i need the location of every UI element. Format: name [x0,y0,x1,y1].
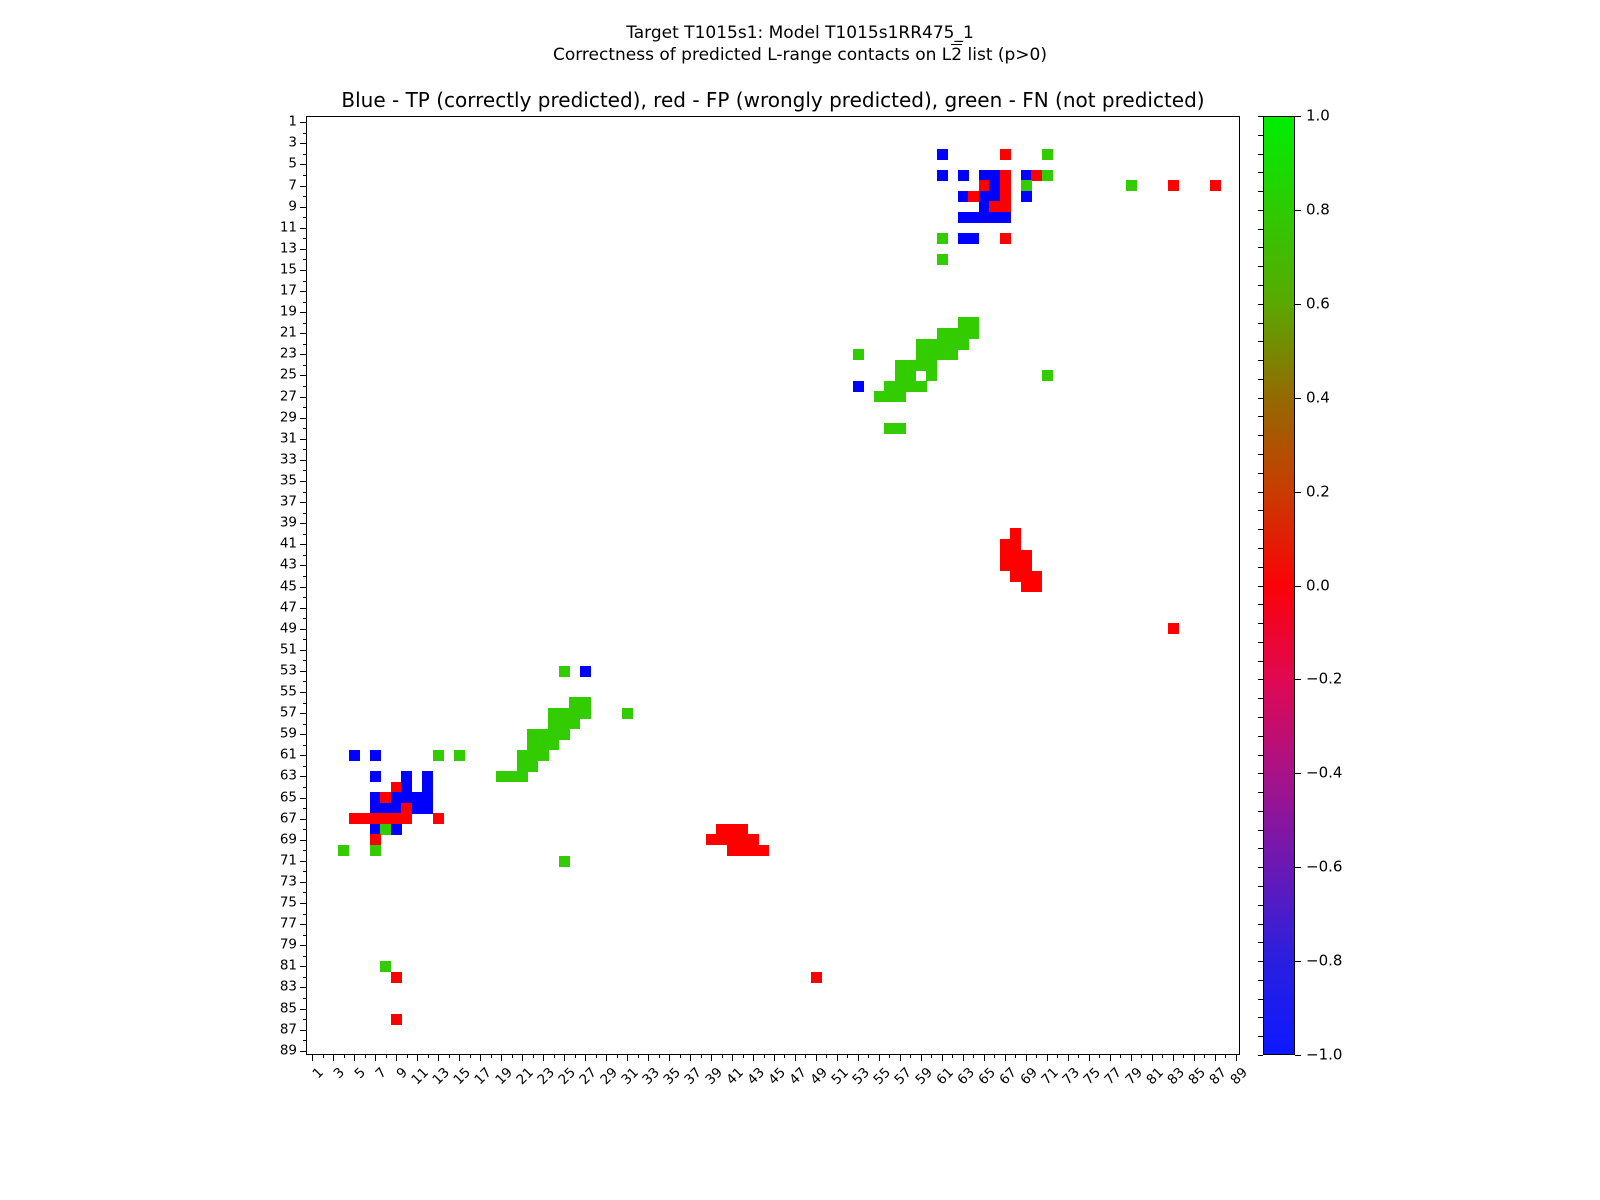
contact-cell [968,191,979,202]
contact-cell [370,824,381,835]
contact-cell [926,339,937,350]
x-tick-major [921,1054,922,1061]
x-tick-major [900,1054,901,1061]
x-tick-label: 17 [473,1066,495,1088]
suptitle-line2-prefix: Correctness of predicted L-range contact… [553,45,951,65]
colorbar-minor-tick [1258,623,1263,624]
x-tick-label: 79 [1124,1066,1146,1088]
y-tick-major [300,734,307,735]
x-tick-minor [470,1054,471,1058]
contact-cell [391,824,402,835]
x-tick-minor [386,1054,387,1058]
x-tick-major [396,1054,397,1061]
x-tick-major [1215,1054,1216,1061]
contact-cell [737,824,748,835]
colorbar-tick-label: 0.6 [1306,296,1330,311]
y-tick-minor [303,618,307,619]
contact-cell [1021,550,1032,561]
contact-cell [1042,370,1053,381]
contact-cell [1031,581,1042,592]
x-tick-minor [847,1054,848,1058]
y-tick-label: 45 [280,580,297,594]
y-tick-label: 29 [280,411,297,425]
x-tick-major [1131,1054,1132,1061]
y-tick-minor [303,344,307,345]
y-tick-minor [303,407,307,408]
y-tick-label: 37 [280,495,297,509]
contact-cell [968,328,979,339]
y-tick-label: 55 [280,685,297,699]
y-tick-minor [303,154,307,155]
contact-cell [1000,233,1011,244]
x-tick-minor [638,1054,639,1058]
x-tick-label: 77 [1103,1066,1125,1088]
x-tick-label: 15 [452,1066,474,1088]
y-tick-minor [303,217,307,218]
colorbar-minor-tick [1258,755,1263,756]
y-tick-label: 13 [280,242,297,256]
colorbar-minor-tick [1258,435,1263,436]
x-tick-major [879,1054,880,1061]
colorbar-minor-tick [1258,304,1263,305]
contact-cell [989,170,1000,181]
contact-cell [349,750,360,761]
y-tick-label: 25 [280,369,297,383]
contact-cell [559,708,570,719]
contact-cell [1000,180,1011,191]
suptitle-line2-suffix: list (p>0) [962,45,1047,65]
y-tick-minor [303,597,307,598]
y-tick-label: 79 [280,938,297,952]
y-tick-minor [303,935,307,936]
contact-cell [433,750,444,761]
contact-cell [947,349,958,360]
contact-cell [370,845,381,856]
contact-cell [958,212,969,223]
contact-cell [370,771,381,782]
contact-cell [979,201,990,212]
contact-cell [926,370,937,381]
contact-cell [968,233,979,244]
x-tick-major [669,1054,670,1061]
contact-cell [517,761,528,772]
y-tick-label: 75 [280,896,297,910]
x-tick-major [417,1054,418,1061]
contact-cell [569,718,580,729]
y-tick-major [300,312,307,313]
x-tick-minor [701,1054,702,1058]
x-tick-minor [973,1054,974,1058]
y-tick-minor [303,492,307,493]
x-tick-label: 49 [809,1066,831,1088]
y-tick-minor [303,386,307,387]
x-tick-major [585,1054,586,1061]
y-tick-label: 87 [280,1023,297,1037]
y-tick-major [300,270,307,271]
y-tick-label: 9 [288,200,297,214]
y-tick-major [300,164,307,165]
contact-cell [349,813,360,824]
contact-cell [916,360,927,371]
x-tick-label: 23 [536,1066,558,1088]
y-tick-major [300,544,307,545]
colorbar-minor-tick [1258,942,1263,943]
contact-cell [1021,581,1032,592]
contact-cell [727,845,738,856]
x-tick-minor [1015,1054,1016,1058]
contact-cell [538,739,549,750]
y-tick-minor [303,724,307,725]
y-tick-label: 53 [280,664,297,678]
x-tick-label: 53 [851,1066,873,1088]
contact-cell [958,317,969,328]
contact-cell [716,824,727,835]
colorbar-minor-tick [1258,905,1263,906]
contact-cell [737,845,748,856]
contact-cell [905,360,916,371]
colorbar-minor-tick [1258,886,1263,887]
colorbar-minor-tick [1258,961,1263,962]
contact-cell [958,339,969,350]
y-tick-label: 43 [280,559,297,573]
x-tick-label: 1 [311,1066,327,1082]
y-tick-major [300,460,307,461]
x-tick-minor [554,1054,555,1058]
x-tick-major [1005,1054,1006,1061]
contact-cell [958,170,969,181]
y-tick-major [300,418,307,419]
y-tick-label: 61 [280,749,297,763]
x-tick-major [1026,1054,1027,1061]
y-tick-label: 31 [280,432,297,446]
y-tick-major [300,291,307,292]
x-tick-label: 81 [1145,1066,1167,1088]
x-tick-minor [722,1054,723,1058]
colorbar-minor-tick [1258,792,1263,793]
colorbar-minor-tick [1258,360,1263,361]
colorbar-tick-label: 0.4 [1306,390,1330,405]
contact-cell [380,803,391,814]
colorbar-minor-tick [1258,679,1263,680]
x-tick-minor [617,1054,618,1058]
y-tick-major [300,671,307,672]
x-tick-minor [805,1054,806,1058]
x-tick-major [963,1054,964,1061]
colorbar-minor-tick [1258,266,1263,267]
contact-cell [527,761,538,772]
colorbar-minor-tick [1258,116,1263,117]
y-tick-minor [303,470,307,471]
x-tick-label: 3 [332,1066,348,1082]
colorbar-tick [1295,679,1301,680]
contact-cell [884,423,895,434]
y-tick-major [300,987,307,988]
colorbar-minor-tick [1258,567,1263,568]
x-tick-minor [344,1054,345,1058]
y-tick-label: 83 [280,981,297,995]
contact-cell [506,771,517,782]
colorbar-minor-tick [1258,736,1263,737]
y-tick-minor [303,681,307,682]
colorbar-tick-label: 0.0 [1306,578,1330,593]
y-tick-label: 47 [280,601,297,615]
x-tick-minor [512,1054,513,1058]
y-tick-minor [303,766,307,767]
x-tick-major [564,1054,565,1061]
x-tick-minor [743,1054,744,1058]
x-tick-minor [889,1054,890,1058]
colorbar-minor-tick [1258,698,1263,699]
colorbar-tick [1295,398,1301,399]
contact-cell [916,349,927,360]
x-tick-major [438,1054,439,1061]
colorbar-minor-tick [1258,416,1263,417]
x-tick-minor [1036,1054,1037,1058]
colorbar-minor-tick [1258,454,1263,455]
y-tick-minor [303,365,307,366]
colorbar-minor-tick [1258,247,1263,248]
colorbar-tick [1295,961,1301,962]
x-tick-minor [931,1054,932,1058]
contact-cell [748,834,759,845]
colorbar-tick [1295,773,1301,774]
contact-cell [391,782,402,793]
x-tick-label: 11 [410,1066,432,1088]
contact-cell [811,972,822,983]
x-tick-label: 29 [599,1066,621,1088]
colorbar-minor-tick [1258,191,1263,192]
x-tick-major [690,1054,691,1061]
contact-cell [1168,180,1179,191]
contact-cell [1210,180,1221,191]
x-tick-minor [407,1054,408,1058]
x-tick-minor [994,1054,995,1058]
y-tick-minor [303,660,307,661]
x-tick-label: 31 [620,1066,642,1088]
contact-cell [979,180,990,191]
contact-cell [884,391,895,402]
y-tick-minor [303,871,307,872]
colorbar[interactable]: 1.00.80.60.40.20.0−0.2−0.4−0.6−0.8−1.0 [1263,116,1295,1055]
x-tick-major [942,1054,943,1061]
y-tick-major [300,1030,307,1031]
y-tick-minor [303,977,307,978]
y-tick-minor [303,576,307,577]
contact-cell [958,233,969,244]
contact-cell [926,349,937,360]
y-tick-label: 59 [280,727,297,741]
contact-cell [422,782,433,793]
contact-cell [1021,170,1032,181]
contact-cell [1021,571,1032,582]
y-tick-minor [303,175,307,176]
x-tick-major [837,1054,838,1061]
x-tick-label: 45 [767,1066,789,1088]
x-tick-major [354,1054,355,1061]
colorbar-minor-tick [1258,642,1263,643]
colorbar-minor-tick [1258,1017,1263,1018]
y-tick-major [300,228,307,229]
y-tick-label: 69 [280,833,297,847]
contact-cell [937,233,948,244]
x-tick-minor [764,1054,765,1058]
colorbar-minor-tick [1258,717,1263,718]
x-tick-major [1110,1054,1111,1061]
y-tick-major [300,439,307,440]
contact-cell [989,180,1000,191]
y-tick-label: 11 [280,221,297,235]
x-tick-major [627,1054,628,1061]
contact-cell [947,339,958,350]
x-tick-major [312,1054,313,1061]
contact-cell [517,750,528,761]
y-tick-major [300,249,307,250]
figure-suptitle-line2: Correctness of predicted L-range contact… [0,44,1600,66]
y-tick-minor [303,850,307,851]
y-tick-minor [303,323,307,324]
y-tick-label: 85 [280,1002,297,1016]
contact-cell [853,381,864,392]
x-tick-major [1236,1054,1237,1061]
contact-cell [937,328,948,339]
colorbar-tick-label: 0.2 [1306,484,1330,499]
y-tick-minor [303,1019,307,1020]
contact-cell [548,708,559,719]
x-tick-label: 41 [725,1066,747,1088]
colorbar-tick [1295,586,1301,587]
x-tick-minor [428,1054,429,1058]
x-tick-minor [680,1054,681,1058]
contact-cell [1042,170,1053,181]
colorbar-minor-tick [1258,323,1263,324]
colorbar-minor-tick [1258,210,1263,211]
x-tick-minor [1057,1054,1058,1058]
contact-cell [370,834,381,845]
colorbar-tick-label: 1.0 [1306,109,1330,124]
contact-cell [1126,180,1137,191]
y-tick-major [300,502,307,503]
colorbar-minor-tick [1258,529,1263,530]
figure-title-block: Target T1015s1: Model T1015s1RR475_1 Cor… [0,22,1600,66]
y-tick-major [300,966,307,967]
x-tick-minor [784,1054,785,1058]
x-tick-label: 59 [914,1066,936,1088]
x-tick-label: 83 [1166,1066,1188,1088]
x-tick-minor [323,1054,324,1058]
colorbar-minor-tick [1258,154,1263,155]
x-tick-major [606,1054,607,1061]
contact-cell [706,834,717,845]
colorbar-minor-tick [1258,172,1263,173]
x-tick-major [501,1054,502,1061]
x-tick-major [375,1054,376,1061]
contact-cell [401,813,412,824]
contact-cell [1000,550,1011,561]
contact-cell [559,856,570,867]
y-tick-label: 65 [280,791,297,805]
contact-cell [412,792,423,803]
y-tick-major [300,819,307,820]
contact-cell [937,339,948,350]
contact-map-plot[interactable]: 1357911131517192123252729313335373941434… [306,116,1240,1055]
contact-cell [989,212,1000,223]
y-tick-label: 5 [288,158,297,172]
contact-cell [559,666,570,677]
x-tick-major [1152,1054,1153,1061]
x-tick-label: 13 [431,1066,453,1088]
contact-cell [391,1014,402,1025]
colorbar-minor-tick [1258,492,1263,493]
x-tick-minor [575,1054,576,1058]
colorbar-minor-tick [1258,1036,1263,1037]
contact-cell [853,349,864,360]
x-tick-label: 47 [788,1066,810,1088]
contact-cell [580,666,591,677]
y-tick-minor [303,745,307,746]
y-tick-major [300,840,307,841]
contact-cell [937,170,948,181]
colorbar-tick [1295,492,1301,493]
x-tick-minor [365,1054,366,1058]
colorbar-minor-tick [1258,773,1263,774]
y-tick-label: 23 [280,348,297,362]
x-tick-minor [596,1054,597,1058]
x-tick-major [984,1054,985,1061]
contact-cell [422,803,433,814]
contact-cell [1000,539,1011,550]
x-tick-label: 71 [1040,1066,1062,1088]
y-tick-label: 81 [280,960,297,974]
colorbar-minor-tick [1258,661,1263,662]
contact-cell [401,782,412,793]
colorbar-tick [1295,867,1301,868]
contact-cell [370,750,381,761]
x-tick-major [795,1054,796,1061]
y-tick-major [300,629,307,630]
contact-cell [1000,560,1011,571]
colorbar-minor-tick [1258,586,1263,587]
y-tick-major [300,861,307,862]
x-tick-label: 9 [395,1066,411,1082]
contact-cell [548,739,559,750]
contact-cell [1000,170,1011,181]
x-tick-major [1194,1054,1195,1061]
x-tick-label: 65 [977,1066,999,1088]
colorbar-minor-tick [1258,135,1263,136]
contact-cell [1010,550,1021,561]
colorbar-tick-label: −1.0 [1306,1048,1342,1063]
figure-suptitle-line1: Target T1015s1: Model T1015s1RR475_1 [0,22,1600,44]
contact-cell [895,391,906,402]
x-tick-label: 39 [704,1066,726,1088]
contact-cell [895,381,906,392]
x-tick-major [1047,1054,1048,1061]
contact-cell [989,191,1000,202]
y-tick-minor [303,956,307,957]
x-tick-minor [1099,1054,1100,1058]
x-tick-minor [533,1054,534,1058]
contact-cell [527,729,538,740]
contact-cell [517,771,528,782]
x-tick-major [816,1054,817,1061]
contact-cell [916,339,927,350]
contact-cell [569,708,580,719]
y-tick-minor [303,829,307,830]
x-tick-minor [952,1054,953,1058]
y-tick-major [300,333,307,334]
x-tick-label: 25 [557,1066,579,1088]
x-tick-minor [1162,1054,1163,1058]
